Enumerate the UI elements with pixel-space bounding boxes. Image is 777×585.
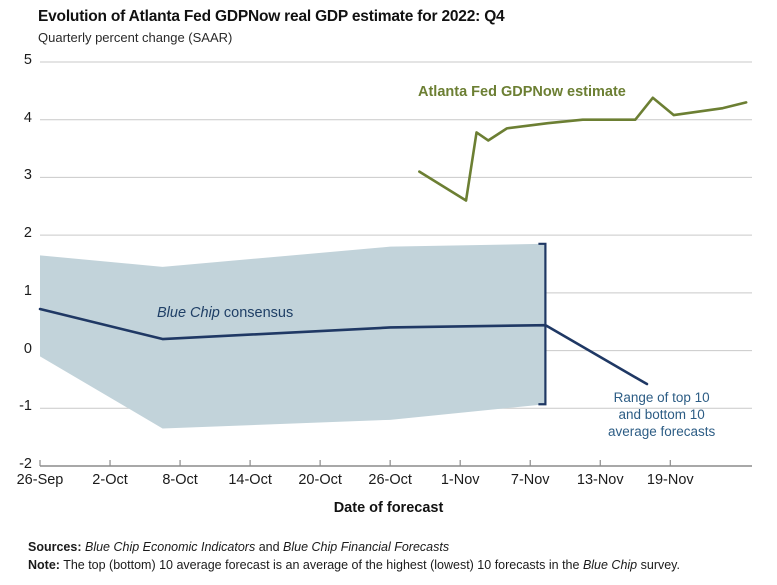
y-tick-label: 4 — [6, 110, 32, 126]
x-axis-title: Date of forecast — [0, 500, 777, 516]
y-tick-label: 0 — [6, 341, 32, 357]
footnote-sources-mid: and — [255, 540, 283, 554]
y-tick-label: -2 — [6, 456, 32, 472]
y-tick-label: 1 — [6, 283, 32, 299]
x-tick-label: 2-Oct — [92, 472, 127, 488]
x-tick-label: 8-Oct — [162, 472, 197, 488]
footnotes: Sources: Blue Chip Economic Indicators a… — [28, 538, 680, 574]
y-tick-label: 3 — [6, 167, 32, 183]
annotation-bluechip-italic: Blue Chip — [157, 305, 220, 321]
footnote-note-italic: Blue Chip — [583, 558, 637, 572]
footnote-sources-italic-2: Blue Chip Financial Forecasts — [283, 540, 449, 554]
footnote-note-label: Note: — [28, 558, 60, 572]
annotation-bluechip-rest: consensus — [220, 305, 293, 321]
annotation-gdpnow-estimate: Atlanta Fed GDPNow estimate — [418, 84, 626, 100]
x-tick-label: 13-Nov — [577, 472, 624, 488]
x-tick-label: 1-Nov — [441, 472, 480, 488]
x-tick-label: 26-Sep — [17, 472, 64, 488]
annotation-range-line-3: average forecasts — [608, 423, 715, 440]
y-tick-label: -1 — [6, 398, 32, 414]
forecast-range-band — [40, 244, 545, 429]
x-tick-label: 7-Nov — [511, 472, 550, 488]
x-tick-label: 20-Oct — [298, 472, 342, 488]
x-tick-label: 26-Oct — [368, 472, 412, 488]
footnote-note: Note: The top (bottom) 10 average foreca… — [28, 556, 680, 574]
annotation-range-forecasts: Range of top 10 and bottom 10 average fo… — [608, 389, 715, 440]
footnote-sources-label: Sources: — [28, 540, 82, 554]
footnote-sources-italic-1: Blue Chip Economic Indicators — [85, 540, 255, 554]
x-tick-label: 19-Nov — [647, 472, 694, 488]
chart-root: Evolution of Atlanta Fed GDPNow real GDP… — [0, 0, 777, 585]
x-axis-line — [40, 460, 752, 466]
y-tick-label: 5 — [6, 52, 32, 68]
annotation-range-line-1: Range of top 10 — [608, 389, 715, 406]
annotation-bluechip-consensus: Blue Chip consensus — [157, 305, 293, 321]
y-tick-label: 2 — [6, 225, 32, 241]
footnote-note-text-1: The top (bottom) 10 average forecast is … — [60, 558, 583, 572]
x-tick-label: 14-Oct — [228, 472, 272, 488]
footnote-sources: Sources: Blue Chip Economic Indicators a… — [28, 538, 680, 556]
annotation-range-line-2: and bottom 10 — [608, 406, 715, 423]
footnote-note-text-2: survey. — [637, 558, 680, 572]
